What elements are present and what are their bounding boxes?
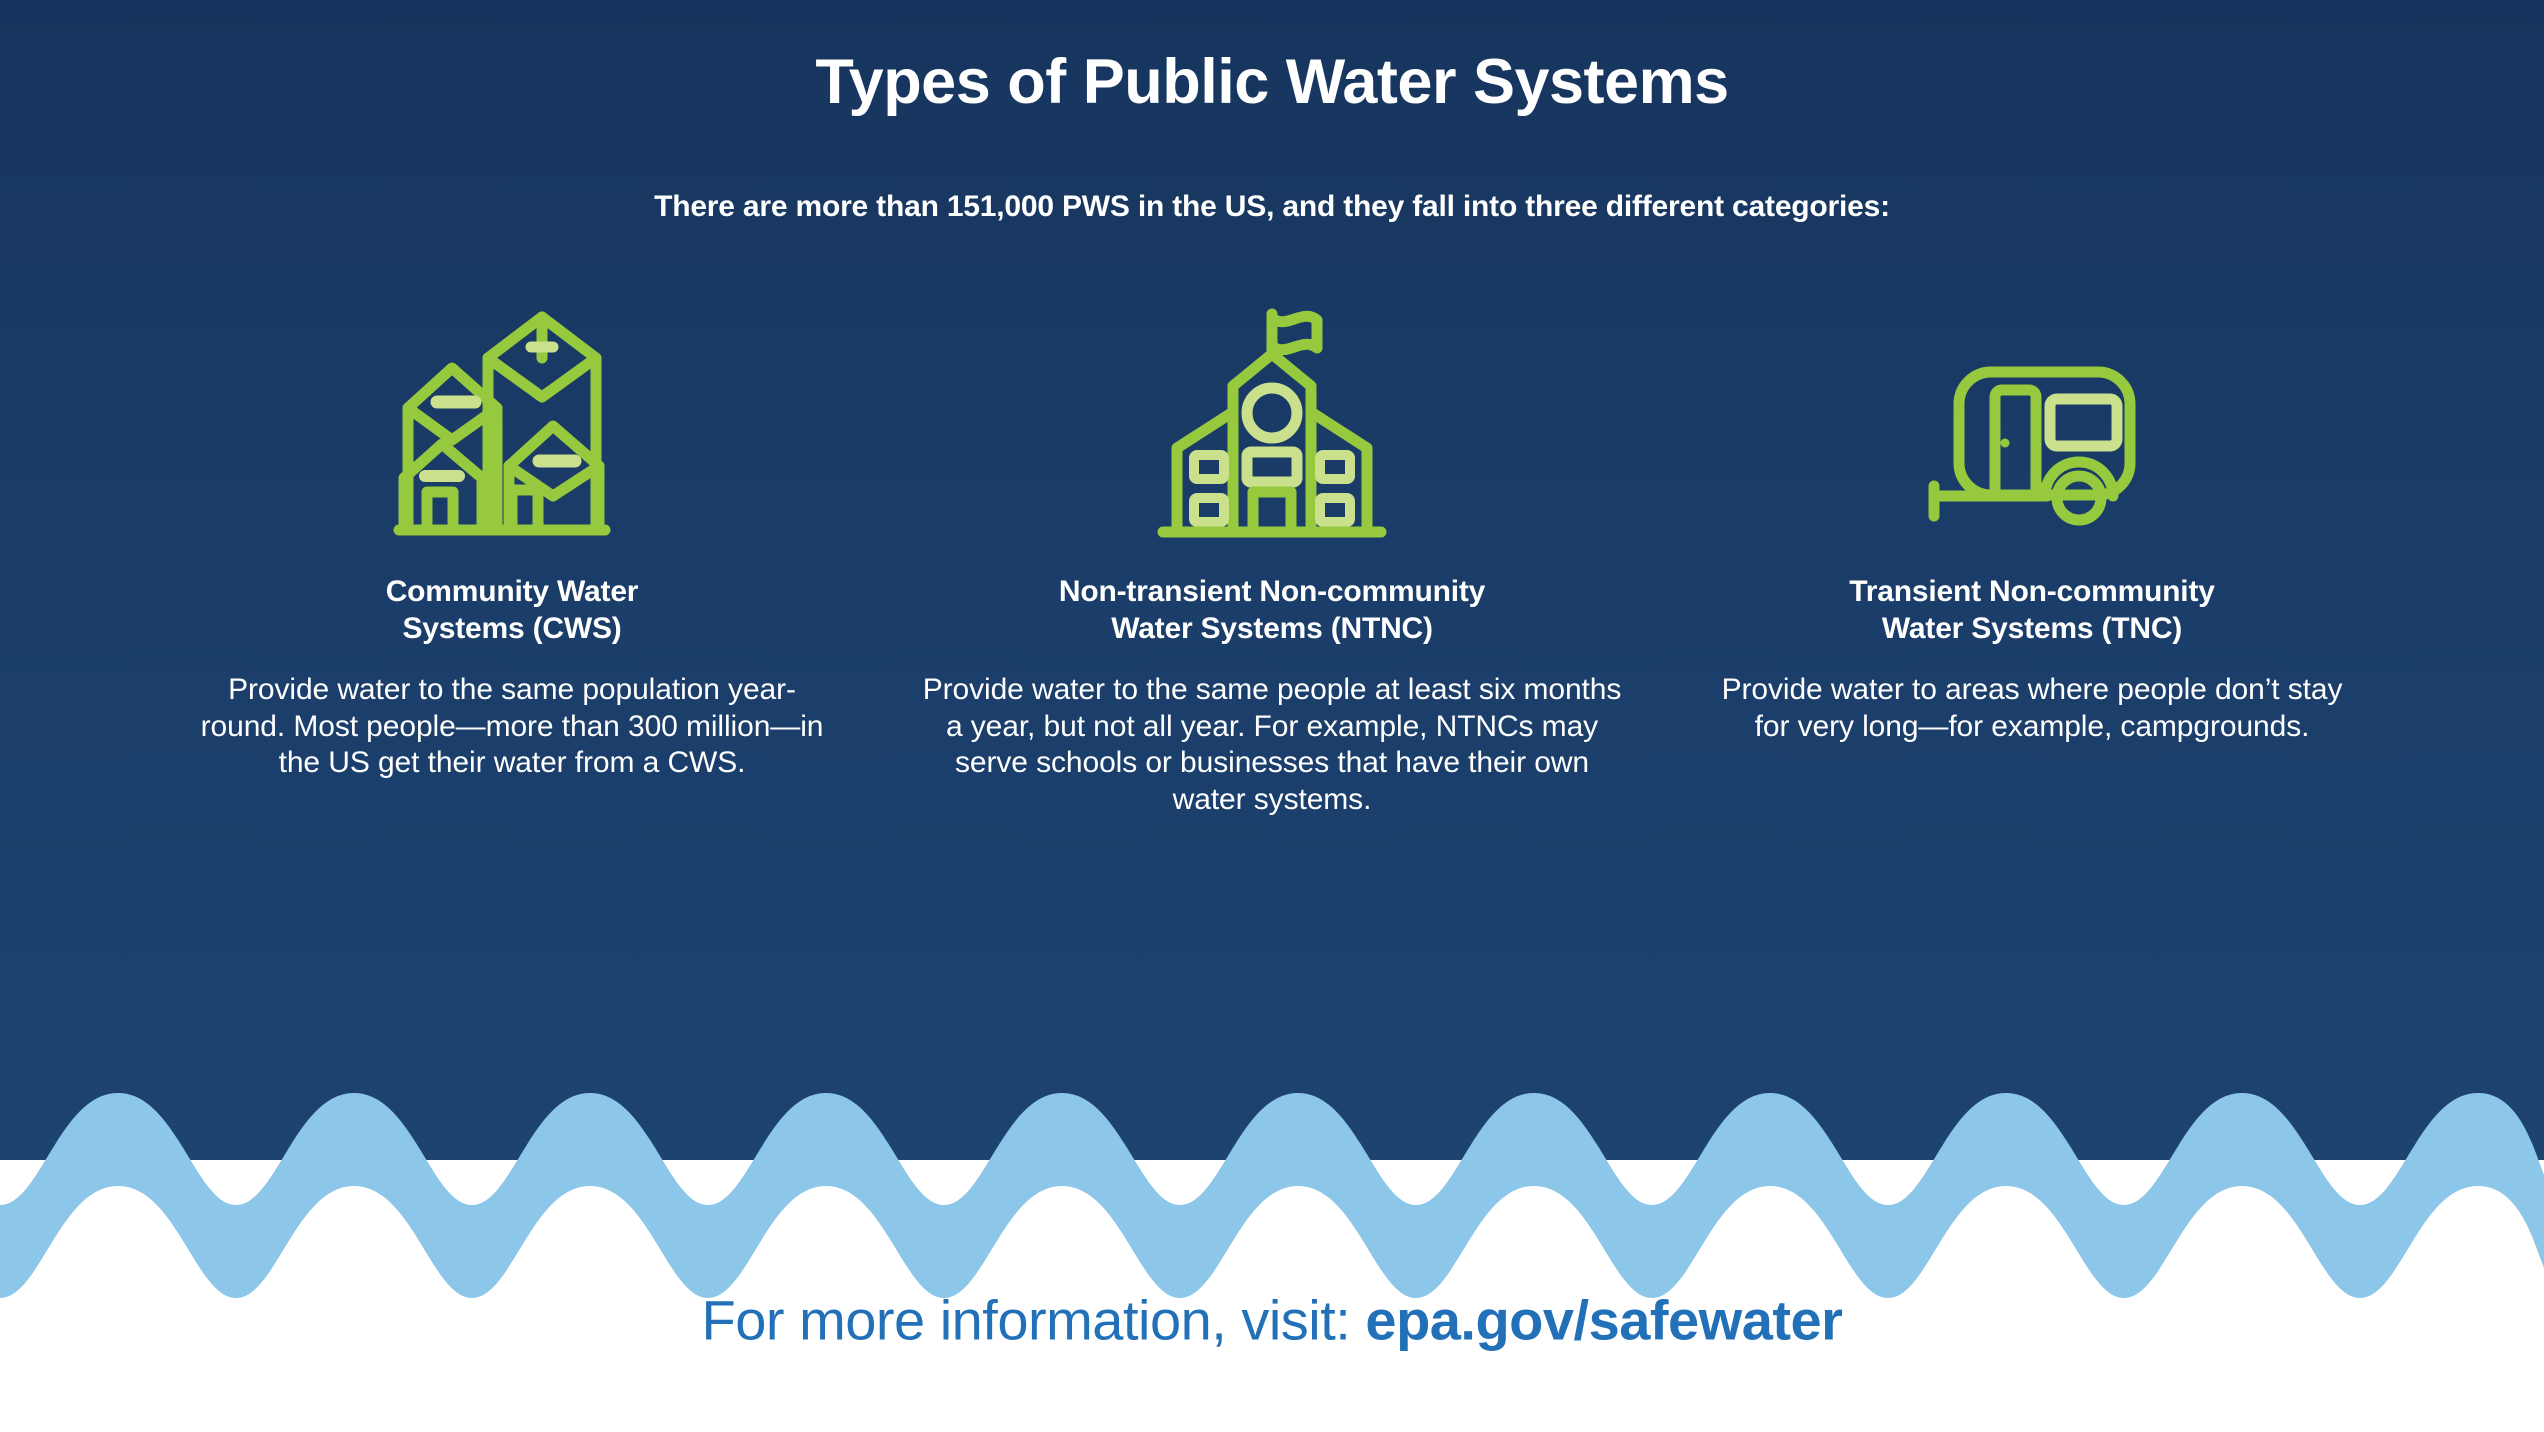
category-description-cws: Provide water to the same population yea… bbox=[197, 672, 827, 782]
category-card-ntnc: Non-transient Non-community Water System… bbox=[892, 300, 1652, 819]
category-columns: Community Water Systems (CWS) Provide wa… bbox=[0, 300, 2544, 819]
category-title-tnc: Transient Non-community Water Systems (T… bbox=[1682, 574, 2382, 647]
epa-safewater-link[interactable]: epa.gov/safewater bbox=[1365, 1289, 1842, 1352]
category-description-tnc: Provide water to areas where people don’… bbox=[1702, 672, 2362, 745]
category-title-ntnc: Non-transient Non-community Water System… bbox=[922, 574, 1622, 647]
houses-icon bbox=[387, 300, 637, 550]
school-building-icon bbox=[1147, 300, 1397, 550]
category-title-line-1: Non-transient Non-community bbox=[1059, 575, 1485, 608]
footer-cta: For more information, visit: epa.gov/saf… bbox=[0, 1288, 2544, 1353]
footer-prefix-text: For more information, visit: bbox=[702, 1289, 1366, 1352]
category-title-line-1: Community Water bbox=[386, 575, 639, 608]
category-title-line-2: Water Systems (NTNC) bbox=[1111, 612, 1433, 645]
infographic-poster: Types of Public Water Systems There are … bbox=[0, 0, 2544, 1432]
page-subtitle: There are more than 151,000 PWS in the U… bbox=[0, 190, 2544, 224]
page-title: Types of Public Water Systems bbox=[0, 46, 2544, 118]
category-title-line-1: Transient Non-community bbox=[1849, 575, 2214, 608]
camper-trailer-icon bbox=[1907, 300, 2157, 550]
category-title-line-2: Water Systems (TNC) bbox=[1882, 612, 2182, 645]
category-description-ntnc: Provide water to the same people at leas… bbox=[922, 672, 1622, 818]
category-card-tnc: Transient Non-community Water Systems (T… bbox=[1652, 300, 2412, 745]
category-title-cws: Community Water Systems (CWS) bbox=[162, 574, 862, 647]
category-card-cws: Community Water Systems (CWS) Provide wa… bbox=[132, 300, 892, 782]
category-title-line-2: Systems (CWS) bbox=[402, 612, 621, 645]
wave-divider bbox=[0, 1075, 2544, 1405]
